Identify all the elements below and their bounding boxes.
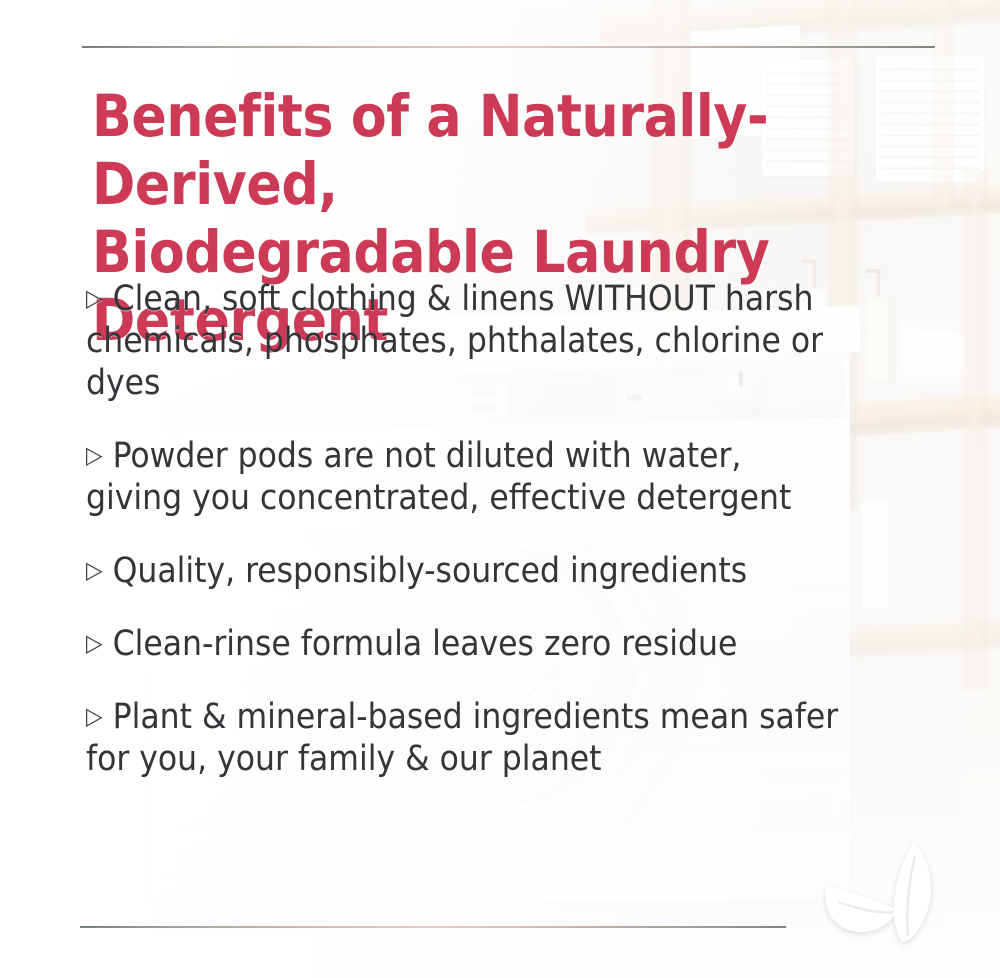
list-item-text: Quality, responsibly-sourced ingredients: [113, 551, 748, 591]
benefits-list: ▷Clean, soft clothing & linens WITHOUT h…: [86, 278, 846, 780]
list-item: ▷Clean, soft clothing & linens WITHOUT h…: [86, 278, 846, 404]
bullet-triangle-icon: ▷: [86, 277, 103, 319]
top-divider-rule: [82, 46, 935, 48]
list-item-text: Clean, soft clothing & linens WITHOUT ha…: [86, 279, 823, 403]
list-item-text: Powder pods are not diluted with water, …: [86, 436, 791, 518]
content-layer: Benefits of a Naturally-Derived, Biodegr…: [0, 0, 1000, 978]
bullet-triangle-icon: ▷: [86, 549, 103, 591]
list-item: ▷Powder pods are not diluted with water,…: [86, 435, 846, 519]
bullet-triangle-icon: ▷: [86, 622, 103, 664]
list-item: ▷Clean-rinse formula leaves zero residue: [86, 623, 846, 665]
list-item-text: Plant & mineral-based ingredients mean s…: [86, 697, 838, 779]
list-item: ▷Plant & mineral-based ingredients mean …: [86, 696, 846, 780]
bottom-divider-rule: [80, 926, 786, 928]
list-item: ▷Quality, responsibly-sourced ingredient…: [86, 550, 846, 592]
leaf-icon: [818, 840, 966, 944]
bullet-triangle-icon: ▷: [86, 434, 103, 476]
infographic-canvas: Benefits of a Naturally-Derived, Biodegr…: [0, 0, 1000, 978]
list-item-text: Clean-rinse formula leaves zero residue: [113, 624, 738, 664]
bullet-triangle-icon: ▷: [86, 695, 103, 737]
